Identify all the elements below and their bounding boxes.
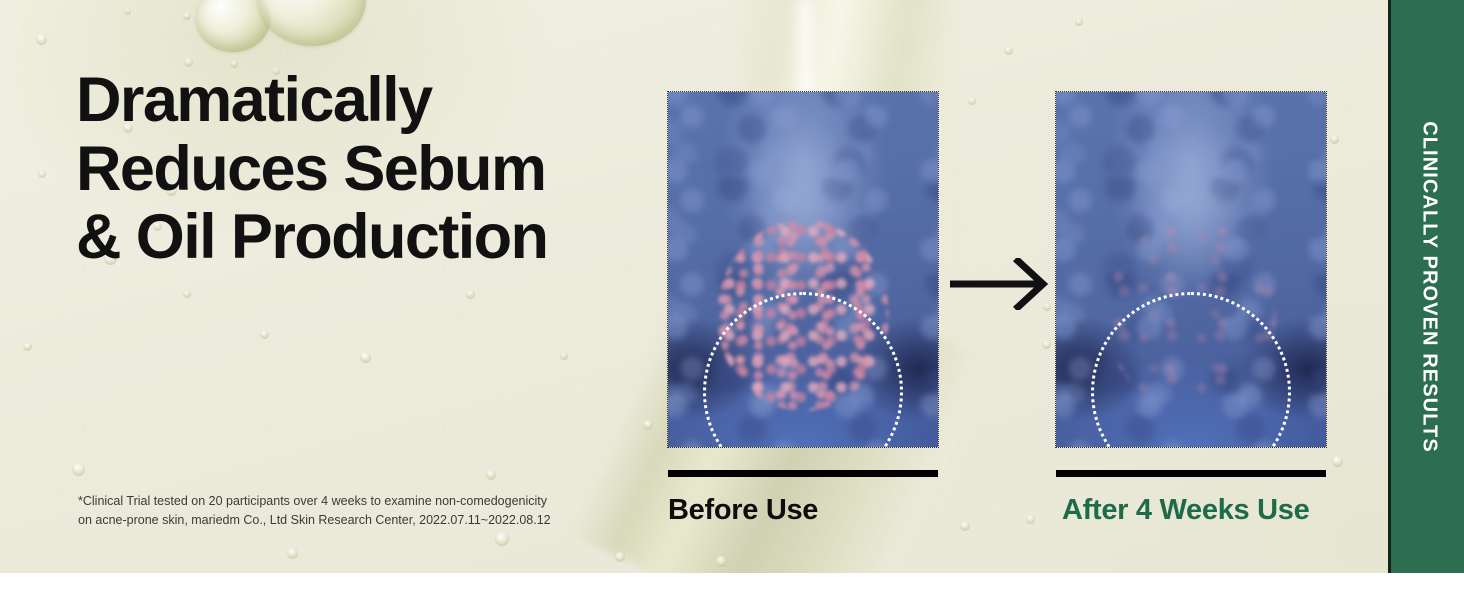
oil-droplet — [72, 463, 85, 476]
oil-droplet — [260, 330, 269, 339]
oil-droplet — [495, 532, 509, 546]
oil-droplet — [1330, 135, 1339, 144]
oil-droplet — [716, 556, 727, 567]
oil-droplet — [183, 12, 191, 20]
oil-droplet — [466, 290, 475, 299]
after-image-panel — [1056, 92, 1326, 447]
oil-droplet — [23, 342, 32, 351]
clinical-results-banner: Dramatically Reduces Sebum & Oil Product… — [0, 0, 1464, 600]
oil-droplet — [615, 552, 625, 562]
oil-droplet — [360, 352, 371, 363]
oil-droplet — [643, 420, 653, 430]
oil-droplet — [560, 352, 568, 360]
oil-droplet — [1042, 340, 1051, 349]
oil-droplet — [960, 521, 970, 531]
oil-droplet — [486, 470, 496, 480]
oil-droplet — [1026, 515, 1035, 524]
oil-droplet — [287, 548, 298, 559]
before-caption: Before Use — [668, 494, 818, 527]
page-title: Dramatically Reduces Sebum & Oil Product… — [76, 66, 696, 272]
oil-droplet — [968, 97, 976, 105]
clinically-proven-side-panel: CLINICALLY PROVEN RESULTS — [1388, 0, 1464, 573]
clinical-trial-disclaimer: *Clinical Trial tested on 20 participant… — [78, 492, 638, 530]
after-caption-rule — [1056, 470, 1326, 477]
oil-droplet — [1004, 46, 1013, 55]
side-panel-label: CLINICALLY PROVEN RESULTS — [1418, 121, 1441, 453]
oil-droplet — [124, 8, 131, 15]
right-arrow-icon — [948, 258, 1052, 310]
oil-droplet — [1332, 456, 1343, 467]
bottom-white-strip — [0, 573, 1464, 600]
oil-droplet — [1075, 18, 1083, 26]
after-caption: After 4 Weeks Use — [1062, 494, 1309, 527]
oil-droplet — [38, 170, 46, 178]
oil-droplet — [183, 290, 191, 298]
before-image-panel — [668, 92, 938, 447]
oil-droplet — [36, 34, 47, 45]
before-caption-rule — [668, 470, 938, 477]
